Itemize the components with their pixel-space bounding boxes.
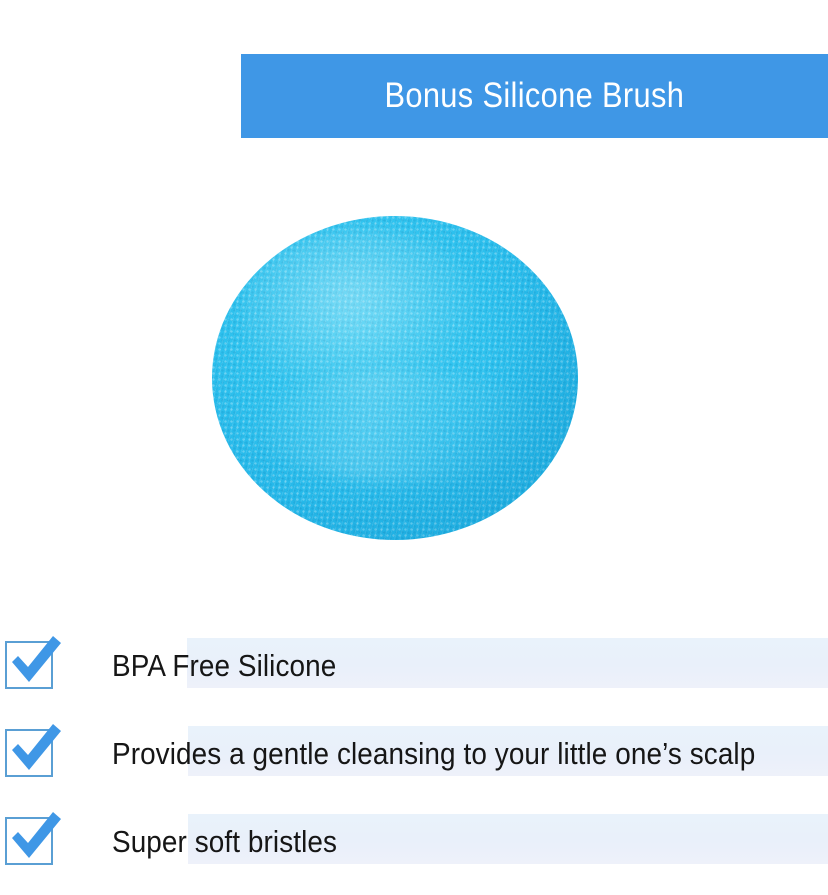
feature-list: BPA Free Silicone Provides a gentle clea…	[0, 622, 828, 886]
checkmark-icon	[4, 806, 66, 868]
product-image	[212, 216, 578, 540]
checkbox-checked[interactable]	[5, 632, 61, 688]
checkbox-checked[interactable]	[5, 808, 61, 864]
checkbox-checked[interactable]	[5, 720, 61, 776]
checkmark-icon	[4, 630, 66, 692]
brush-sheen	[256, 372, 549, 482]
brush-highlight	[241, 229, 483, 397]
feature-label: Provides a gentle cleansing to your litt…	[112, 710, 755, 798]
list-item: Super soft bristles	[0, 798, 828, 886]
product-detail-page: Bonus Silicone Brush BPA Free Silicone	[0, 0, 828, 895]
list-item: BPA Free Silicone	[0, 622, 828, 710]
banner-title: Bonus Silicone Brush	[385, 78, 685, 115]
silicone-brush-icon	[212, 216, 578, 540]
bonus-banner: Bonus Silicone Brush	[241, 54, 828, 138]
feature-label: BPA Free Silicone	[112, 622, 336, 710]
checkmark-icon	[4, 718, 66, 780]
feature-label: Super soft bristles	[112, 798, 337, 886]
list-item: Provides a gentle cleansing to your litt…	[0, 710, 828, 798]
